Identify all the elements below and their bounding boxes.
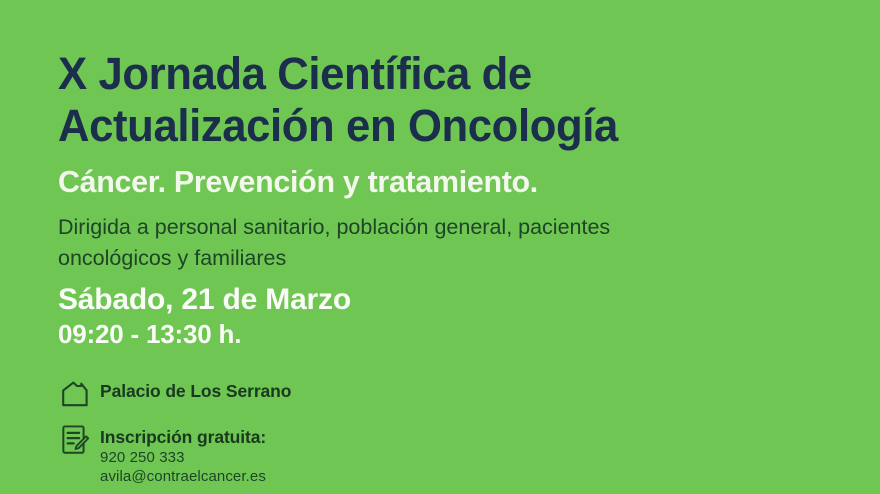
event-poster: X Jornada Científica de Actualización en…	[0, 0, 880, 494]
audience-description: Dirigida a personal sanitario, población…	[58, 212, 758, 274]
title-line-2: Actualización en Oncología	[58, 100, 824, 152]
subtitle: Cáncer. Prevención y tratamiento.	[58, 164, 538, 200]
venue-text: Palacio de Los Serrano	[100, 378, 291, 402]
schedule-block: Sábado, 21 de Marzo 09:20 - 13:30 h.	[58, 282, 351, 351]
house-icon	[60, 378, 90, 410]
venue-name: Palacio de Los Serrano	[100, 380, 291, 402]
title-line-1: X Jornada Científica de	[58, 48, 824, 100]
registration-heading: Inscripción gratuita:	[100, 426, 266, 448]
audience-line-1: Dirigida a personal sanitario, población…	[58, 212, 758, 243]
event-time: 09:20 - 13:30 h.	[58, 318, 351, 351]
registration-text: Inscripción gratuita: 920 250 333 avila@…	[100, 424, 266, 486]
page-title: X Jornada Científica de Actualización en…	[58, 48, 848, 152]
registration-email[interactable]: avila@contraelcancer.es	[100, 467, 266, 486]
registration-phone[interactable]: 920 250 333	[100, 448, 266, 467]
registration-row: Inscripción gratuita: 920 250 333 avila@…	[60, 424, 266, 486]
audience-line-2: oncológicos y familiares	[58, 243, 758, 274]
clipboard-pencil-icon	[60, 424, 90, 456]
venue-row: Palacio de Los Serrano	[60, 378, 291, 410]
event-date: Sábado, 21 de Marzo	[58, 282, 351, 318]
